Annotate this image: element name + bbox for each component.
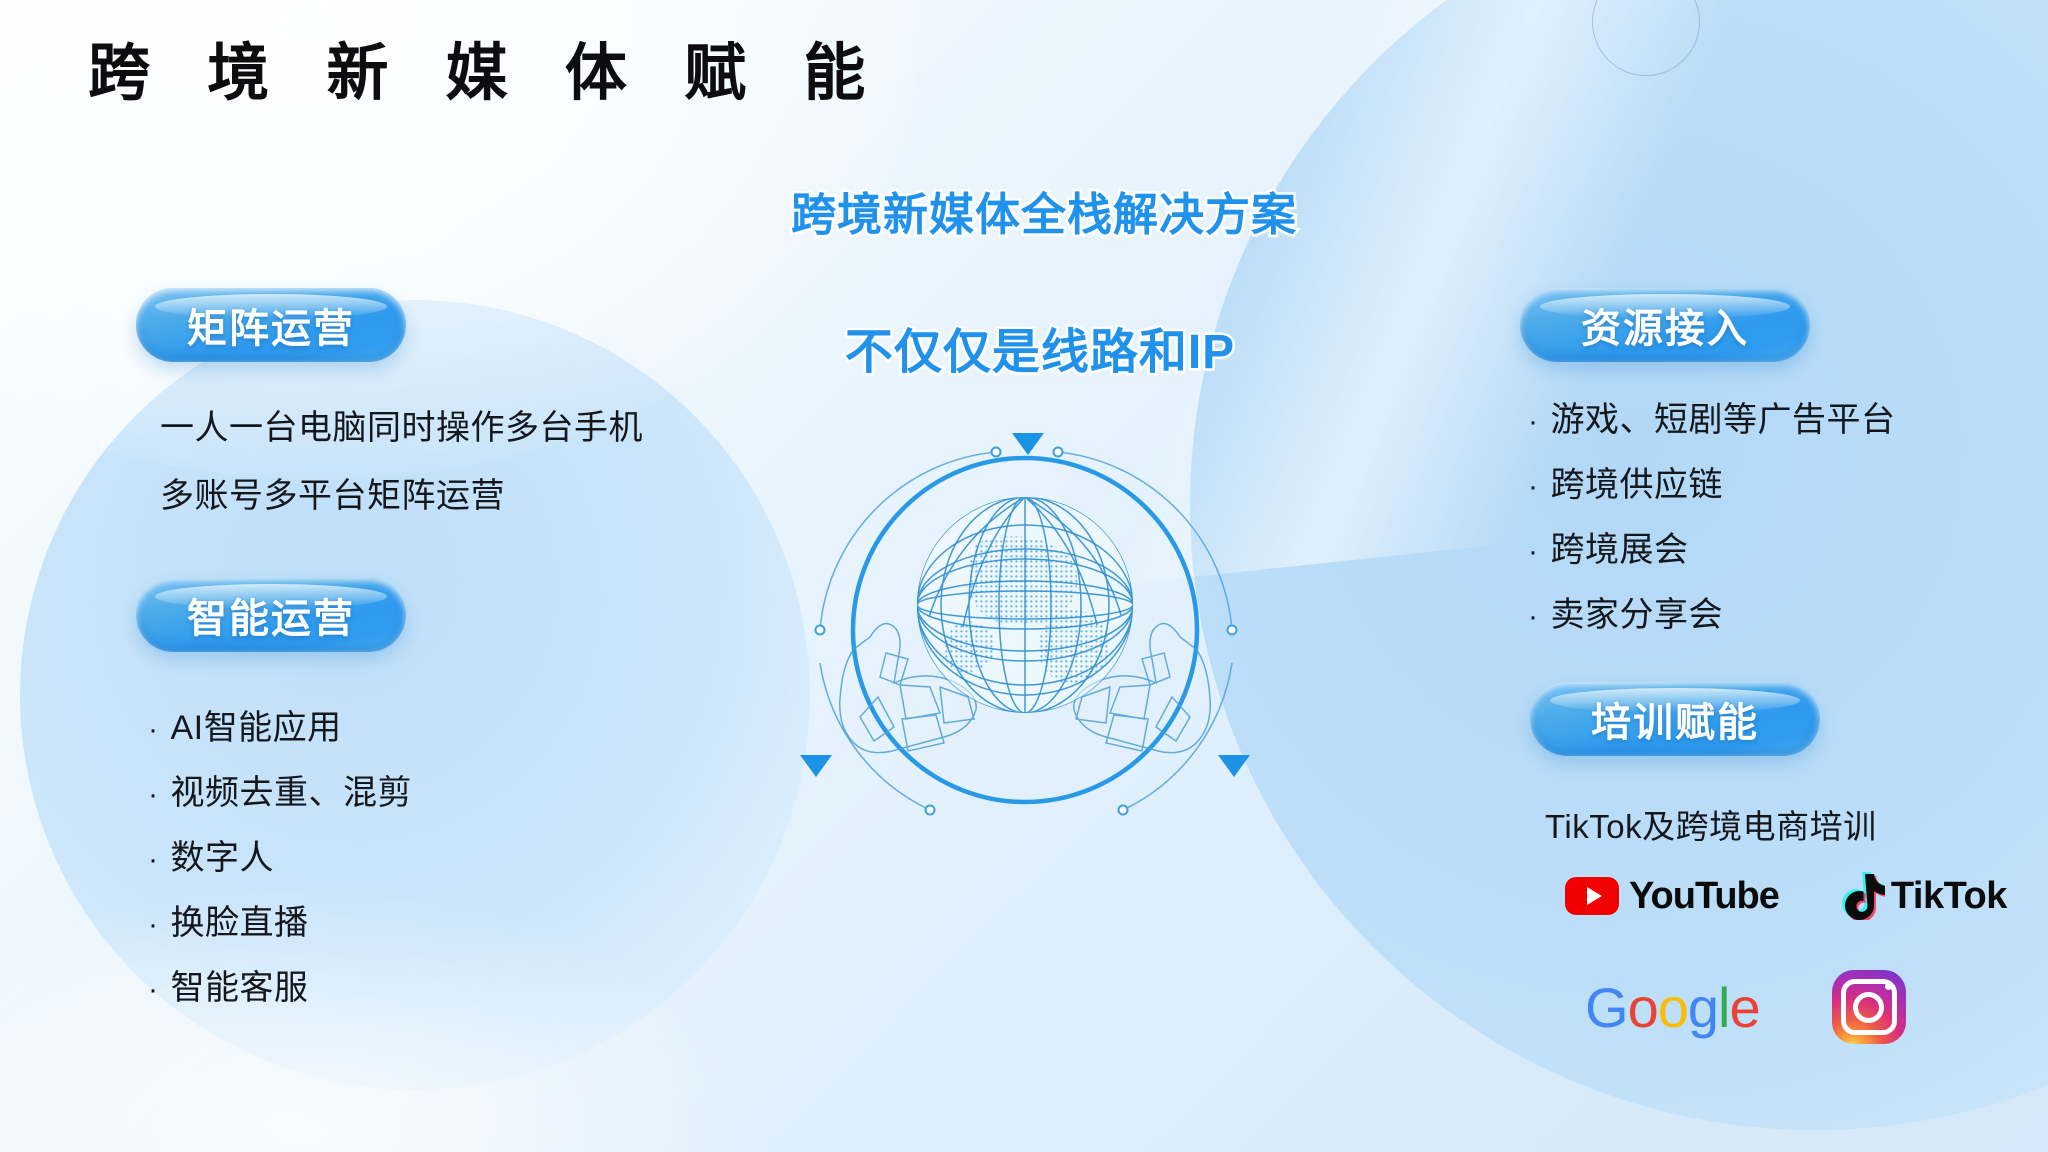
center-heading-primary: 跨境新媒体全栈解决方案 <box>791 178 1297 243</box>
google-letter-g1: G <box>1585 975 1628 1040</box>
google-logo[interactable]: Google <box>1585 975 1760 1040</box>
bullet-icon: · <box>1528 405 1539 438</box>
youtube-label: YouTube <box>1629 875 1779 918</box>
list-item: ·智能客服 <box>148 960 309 1009</box>
badge-label: 智能运营 <box>187 586 355 644</box>
list-item-label: 游戏、短剧等广告平台 <box>1551 401 1896 439</box>
list-item: ·跨境供应链 <box>1528 457 1723 506</box>
background-glow-bottom <box>0 880 750 1152</box>
list-item-label: AI智能应用 <box>171 709 342 747</box>
google-letter-l: l <box>1718 975 1729 1040</box>
matrix-line-2: 多账号多平台矩阵运营 <box>160 468 505 517</box>
badge-label: 矩阵运营 <box>187 296 355 354</box>
list-item-label: 换脸直播 <box>171 904 309 942</box>
globe-illustration <box>790 415 1260 845</box>
badge-smart-operations[interactable]: 智能运营 <box>136 578 406 652</box>
list-item-label: 跨境展会 <box>1551 531 1689 569</box>
badge-matrix-operations[interactable]: 矩阵运营 <box>136 288 406 362</box>
decorative-circle-outline <box>1592 0 1700 76</box>
brand-logo-row-1: YouTube TikTok <box>1565 872 2007 920</box>
badge-training-empowerment[interactable]: 培训赋能 <box>1530 682 1820 756</box>
youtube-play-icon <box>1565 877 1619 915</box>
list-item-label: 视频去重、混剪 <box>171 774 413 812</box>
list-item: ·AI智能应用 <box>148 700 342 749</box>
matrix-line-1: 一人一台电脑同时操作多台手机 <box>160 400 643 449</box>
list-item-label: 卖家分享会 <box>1551 596 1724 634</box>
tiktok-label: TikTok <box>1891 875 2007 918</box>
brand-logo-row-2: Google <box>1585 970 1906 1044</box>
badge-resource-access[interactable]: 资源接入 <box>1520 288 1810 362</box>
bullet-icon: · <box>1528 470 1539 503</box>
google-letter-o1: o <box>1628 975 1658 1040</box>
list-item: ·换脸直播 <box>148 895 309 944</box>
list-item-label: 跨境供应链 <box>1551 466 1724 504</box>
slide-canvas: 跨 境 新 媒 体 赋 能 跨境新媒体全栈解决方案 不仅仅是线路和IP <box>0 0 2048 1152</box>
list-item: ·卖家分享会 <box>1528 587 1723 636</box>
instagram-logo[interactable] <box>1832 970 1906 1044</box>
list-item: ·视频去重、混剪 <box>148 765 412 814</box>
bullet-icon: · <box>148 713 159 746</box>
list-item-label: 智能客服 <box>171 969 309 1007</box>
badge-label: 培训赋能 <box>1591 690 1759 748</box>
training-note: TikTok及跨境电商培训 <box>1545 800 1877 848</box>
bullet-icon: · <box>148 778 159 811</box>
globe-in-hands-icon <box>790 415 1260 845</box>
youtube-logo[interactable]: YouTube <box>1565 875 1779 918</box>
page-title: 跨 境 新 媒 体 赋 能 <box>88 38 885 109</box>
bullet-icon: · <box>148 843 159 876</box>
badge-label: 资源接入 <box>1581 296 1749 354</box>
bullet-icon: · <box>148 973 159 1006</box>
tiktok-logo[interactable]: TikTok <box>1841 872 2007 920</box>
bullet-icon: · <box>1528 600 1539 633</box>
bullet-icon: · <box>1528 535 1539 568</box>
bullet-icon: · <box>148 908 159 941</box>
list-item: ·数字人 <box>148 830 274 879</box>
list-item: ·跨境展会 <box>1528 522 1689 571</box>
list-item-label: 数字人 <box>171 839 275 877</box>
center-heading-secondary: 不仅仅是线路和IP <box>845 312 1235 382</box>
google-letter-g2: g <box>1688 975 1718 1040</box>
tiktok-note-icon <box>1841 872 1885 920</box>
instagram-camera-icon <box>1832 970 1906 1044</box>
google-letter-o2: o <box>1658 975 1688 1040</box>
google-letter-e: e <box>1729 975 1759 1040</box>
list-item: ·游戏、短剧等广告平台 <box>1528 392 1896 441</box>
